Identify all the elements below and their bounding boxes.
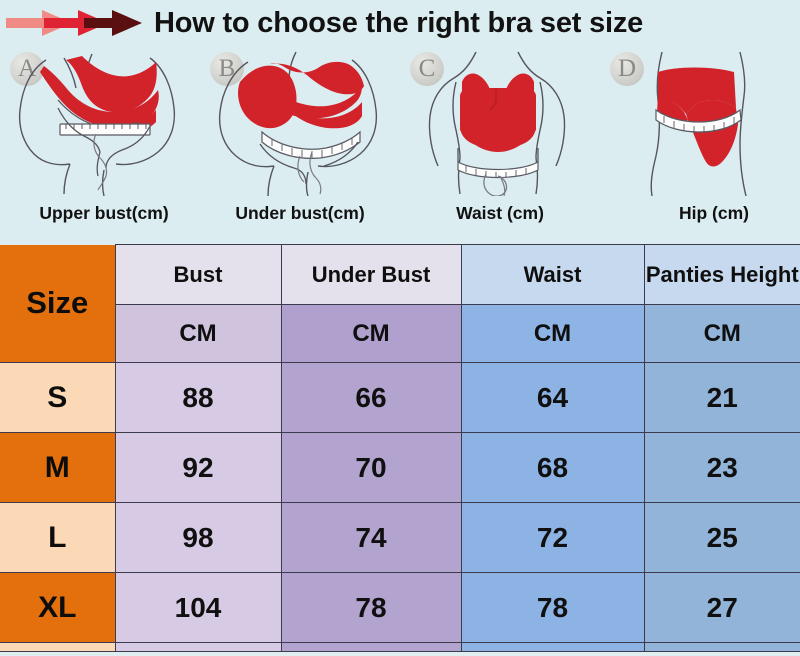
measurement-guide-panel: How to choose the right bra set size A [0,0,800,244]
table-row-clipped [0,643,800,652]
cell-under-bust: 74 [281,503,461,573]
header-panties-height: Panties Height [644,245,800,305]
cell-panties-height: 21 [644,363,800,433]
header-size: Size [0,245,115,363]
table-header-row-units: CM CM CM CM [0,305,800,363]
triple-red-arrow-icon [4,6,154,40]
cell-bust: 88 [115,363,281,433]
woman-measuring-upper-bust-illustration [0,48,200,196]
cell-panties-height: 25 [644,503,800,573]
step-label-under-bust: Under bust(cm) [200,203,400,224]
cell-waist: 64 [461,363,644,433]
measurement-steps: A [0,46,800,244]
step-waist: C [400,46,600,244]
cell-bust: 104 [115,573,281,643]
woman-measuring-under-bust-illustration [200,48,400,196]
cell-under-bust: 66 [281,363,461,433]
page-title: How to choose the right bra set size [154,7,643,40]
table-header-row-names: Size Bust Under Bust Waist Panties Heigh… [0,245,800,305]
size-chart-page: How to choose the right bra set size A [0,0,800,656]
guide-title-row: How to choose the right bra set size [0,0,800,46]
unit-waist: CM [461,305,644,363]
step-label-hip: Hip (cm) [600,203,800,224]
cell-bust-clipped [115,643,281,652]
unit-bust: CM [115,305,281,363]
cell-bust: 98 [115,503,281,573]
header-under-bust: Under Bust [281,245,461,305]
woman-measuring-waist-illustration [400,48,600,196]
header-waist: Waist [461,245,644,305]
cell-size-clipped [0,643,115,652]
unit-panties-height: CM [644,305,800,363]
table-row: M 92 70 68 23 [0,433,800,503]
cell-panties-height: 23 [644,433,800,503]
unit-under-bust: CM [281,305,461,363]
cell-under-bust: 78 [281,573,461,643]
step-upper-bust: A [0,46,200,244]
header-bust: Bust [115,245,281,305]
cell-waist: 78 [461,573,644,643]
size-chart-table: Size Bust Under Bust Waist Panties Heigh… [0,244,800,652]
step-hip: D [600,46,800,244]
table-row: S 88 66 64 21 [0,363,800,433]
table-row: L 98 74 72 25 [0,503,800,573]
cell-size: M [0,433,115,503]
cell-panties-height: 27 [644,573,800,643]
cell-under-bust: 70 [281,433,461,503]
cell-bust: 92 [115,433,281,503]
woman-measuring-hip-illustration [600,48,800,196]
step-label-upper-bust: Upper bust(cm) [0,203,204,224]
cell-size: S [0,363,115,433]
cell-panties-height-clipped [644,643,800,652]
cell-waist: 68 [461,433,644,503]
cell-under-bust-clipped [281,643,461,652]
step-under-bust: B [200,46,400,244]
cell-waist: 72 [461,503,644,573]
step-label-waist: Waist (cm) [400,203,600,224]
cell-waist-clipped [461,643,644,652]
cell-size: XL [0,573,115,643]
table-row: XL 104 78 78 27 [0,573,800,643]
cell-size: L [0,503,115,573]
